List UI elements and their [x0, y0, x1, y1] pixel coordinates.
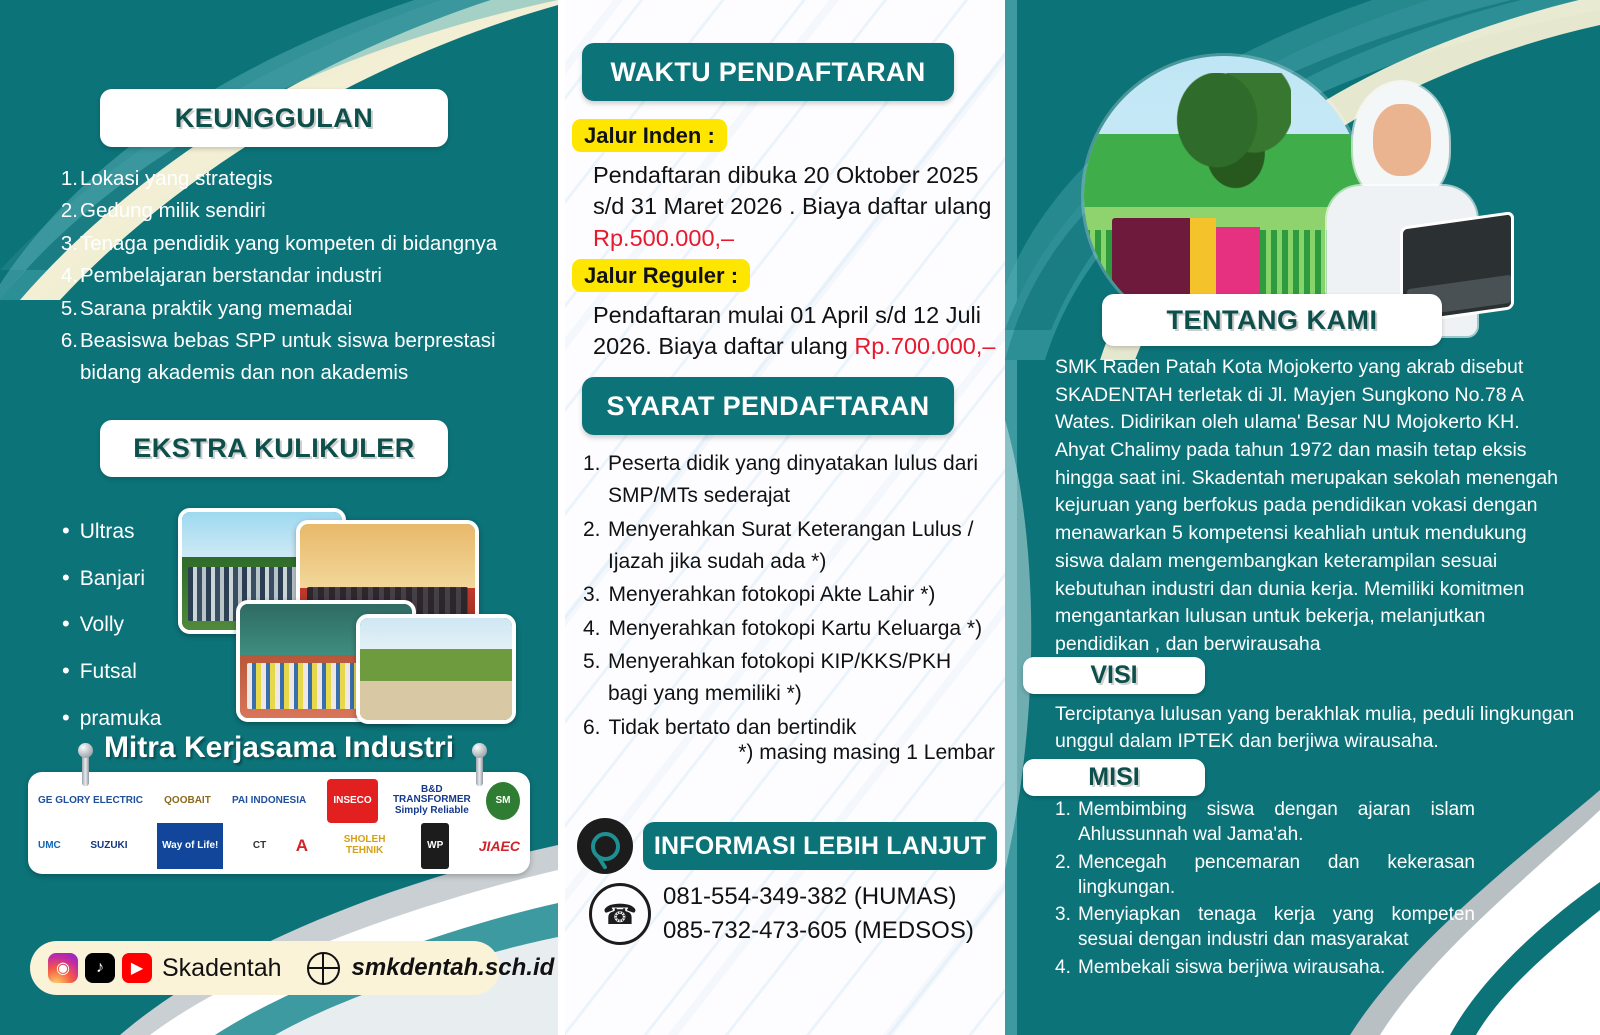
ekstra-item-1: Ultras [80, 520, 135, 543]
logo-qoobait: QOOBAIT [164, 782, 211, 820]
list-item: Banjari [62, 555, 161, 602]
keunggulan-item-4: Pembelajaran berstandar industri [80, 260, 538, 292]
ekstra-item-2: Banjari [80, 567, 145, 590]
list-item: Ultras [62, 508, 161, 555]
logo-a-red: A [296, 827, 308, 865]
globe-icon [307, 952, 340, 985]
left-panel: KEUNGGULAN 1.Lokasi yang strategis 2.Ged… [0, 0, 558, 1035]
industry-partner-logos-box: GE GLORY ELECTRIC QOOBAIT PAI INDONESIA … [28, 772, 530, 874]
syarat-item-2: Menyerahkan Surat Keterangan Lulus / Ija… [608, 514, 993, 579]
ekstra-kulikuler-title: EKSTRA KULIKULER [133, 433, 415, 464]
list-item: 4.Pembelajaran berstandar industri [58, 260, 538, 292]
syarat-pendaftaran-title: SYARAT PENDAFTARAN [607, 391, 930, 422]
about-paragraph: SMK Raden Patah Kota Mojokerto yang akra… [1055, 354, 1571, 659]
keunggulan-item-6: Beasiswa bebas SPP untuk siswa berpresta… [80, 325, 538, 357]
pin-left-icon [82, 752, 89, 786]
contact-phone-row: ☎ 081-554-349-382 (HUMAS) 085-732-473-60… [589, 880, 1005, 948]
left-accent-strip [1005, 0, 1017, 1035]
ekstra-item-5: pramuka [80, 707, 162, 730]
list-item: Futsal [62, 648, 161, 695]
jalur-inden-label: Jalur Inden : [584, 123, 715, 149]
phone-medsos[interactable]: 085-732-473-605 (MEDSOS) [663, 914, 974, 948]
list-item: 6.Tidak bertato dan bertindik [583, 712, 993, 744]
middle-panel: WAKTU PENDAFTARAN Jalur Inden : Pendafta… [565, 0, 1005, 1035]
waktu-pendaftaran-header: WAKTU PENDAFTARAN [582, 43, 954, 101]
social-media-bar: ◉ ♪ ▶ Skadentah smkdentah.sch.id [30, 941, 500, 995]
list-item: 1.Peserta didik yang dinyatakan lulus da… [583, 448, 993, 513]
logo-sholeh-tehnik: SHOLEH TEHNIK [338, 827, 392, 865]
tentang-kami-title: TENTANG KAMI [1167, 305, 1378, 336]
jalur-reguler-description: Pendaftaran mulai 01 April s/d 12 Juli 2… [593, 300, 998, 363]
keunggulan-item-1: Lokasi yang strategis [80, 163, 538, 195]
jalur-inden-text: Pendaftaran dibuka 20 Oktober 2025 s/d 3… [593, 162, 991, 219]
logo-bd-transformer: B&D TRANSFORMER Simply Reliable [399, 782, 465, 820]
keunggulan-item-3: Tenaga pendidik yang kompeten di bidangn… [80, 228, 538, 260]
social-handle: Skadentah [162, 954, 282, 983]
syarat-item-3: Menyerahkan fotokopi Akte Lahir *) [609, 579, 936, 611]
misi-heading-pill: MISI [1023, 759, 1205, 796]
syarat-pendaftaran-header: SYARAT PENDAFTARAN [582, 377, 954, 435]
list-item: 5.Menyerahkan fotokopi KIP/KKS/PKH bagi … [583, 646, 993, 711]
list-item: 4.Menyerahkan fotokopi Kartu Keluarga *) [583, 613, 993, 645]
syarat-item-5: Menyerahkan fotokopi KIP/KKS/PKH bagi ya… [608, 646, 993, 711]
ekstra-kulikuler-heading-pill: EKSTRA KULIKULER [100, 420, 448, 477]
bottom-right-swirl-decoration [1280, 790, 1600, 1035]
list-item: 1.Lokasi yang strategis [58, 163, 538, 195]
keunggulan-title: KEUNGGULAN [175, 103, 374, 134]
website-url[interactable]: smkdentah.sch.id [352, 954, 555, 982]
jalur-inden-description: Pendaftaran dibuka 20 Oktober 2025 s/d 3… [593, 160, 993, 254]
logo-pai-indonesia: PAI INDONESIA [232, 782, 306, 820]
informasi-pill: INFORMASI LEBIH LANJUT [643, 822, 997, 870]
tiktok-icon[interactable]: ♪ [85, 953, 115, 983]
informasi-title: INFORMASI LEBIH LANJUT [654, 832, 986, 861]
list-item: 6.Beasiswa bebas SPP untuk siswa berpres… [58, 325, 538, 357]
keunggulan-item-6-continuation: bidang akademis dan non akademis [58, 357, 538, 389]
syarat-item-1: Peserta didik yang dinyatakan lulus dari… [608, 448, 993, 513]
pin-right-icon [476, 752, 483, 786]
list-item: 2.Menyerahkan Surat Keterangan Lulus / I… [583, 514, 993, 579]
misi-title: MISI [1088, 763, 1139, 792]
keunggulan-heading-pill: KEUNGGULAN [100, 89, 448, 147]
logo-inseco: INSECO [327, 779, 377, 823]
youtube-icon[interactable]: ▶ [122, 953, 152, 983]
jalur-reguler-price: Rp.700.000,– [854, 333, 995, 359]
list-item: 5.Sarana praktik yang memadai [58, 293, 538, 325]
waktu-pendaftaran-title: WAKTU PENDAFTARAN [610, 57, 925, 88]
ekstra-item-4: Futsal [80, 660, 137, 683]
extracurricular-photo-collage [178, 502, 508, 717]
syarat-list: 1.Peserta didik yang dinyatakan lulus da… [583, 448, 993, 745]
syarat-item-6: Tidak bertato dan bertindik [609, 712, 857, 744]
phone-humas[interactable]: 081-554-349-382 (HUMAS) [663, 880, 974, 914]
phone-numbers: 081-554-349-382 (HUMAS) 085-732-473-605 … [663, 880, 974, 948]
visi-heading-pill: VISI [1023, 657, 1205, 694]
jalur-reguler-label: Jalur Reguler : [584, 263, 738, 289]
visi-title: VISI [1090, 661, 1137, 690]
search-icon [591, 832, 620, 861]
keunggulan-list: 1.Lokasi yang strategis 2.Gedung milik s… [58, 163, 538, 390]
photo-volley-court [356, 614, 516, 724]
list-item: Volly [62, 601, 161, 648]
logo-ct: CT [253, 827, 266, 865]
informasi-lebih-lanjut-row: INFORMASI LEBIH LANJUT [577, 818, 997, 874]
keunggulan-item-2: Gedung milik sendiri [80, 195, 538, 227]
ekstra-item-3: Volly [80, 613, 124, 636]
phone-icon: ☎ [589, 883, 651, 945]
list-item: 3.Menyerahkan fotokopi Akte Lahir *) [583, 579, 993, 611]
syarat-footnote: *) masing masing 1 Lembar [738, 741, 995, 765]
magnifier-badge [577, 818, 633, 874]
jalur-inden-price: Rp.500.000,– [593, 225, 734, 251]
jalur-inden-tag: Jalur Inden : [572, 119, 727, 152]
logo-umc: UMC [38, 827, 61, 865]
tentang-kami-heading-pill: TENTANG KAMI [1102, 294, 1442, 346]
brochure-page: KEUNGGULAN 1.Lokasi yang strategis 2.Ged… [0, 0, 1600, 1035]
logo-row-1: GE GLORY ELECTRIC QOOBAIT PAI INDONESIA … [38, 779, 520, 823]
logo-wp: WP [421, 823, 449, 869]
keunggulan-item-5: Sarana praktik yang memadai [80, 293, 538, 325]
right-panel: TENTANG KAMI SMK Raden Patah Kota Mojoke… [1005, 0, 1600, 1035]
syarat-item-4: Menyerahkan fotokopi Kartu Keluarga *) [609, 613, 983, 645]
logo-sm: SM [486, 782, 520, 820]
logo-suzuki: SUZUKI [90, 827, 127, 865]
jalur-reguler-tag: Jalur Reguler : [572, 259, 750, 292]
instagram-icon[interactable]: ◉ [48, 953, 78, 983]
logo-row-2: UMC SUZUKI Way of Life! CT A SHOLEH TEHN… [38, 824, 520, 868]
logo-glory-electric: GE GLORY ELECTRIC [38, 782, 143, 820]
logo-jiaec: JIAEC [479, 827, 520, 865]
list-item: 2.Gedung milik sendiri [58, 195, 538, 227]
logo-honda-way-of-life: Way of Life! [157, 823, 223, 869]
ekstra-kulikuler-list: Ultras Banjari Volly Futsal pramuka [62, 508, 161, 741]
list-item: 3.Tenaga pendidik yang kompeten di bidan… [58, 228, 538, 260]
